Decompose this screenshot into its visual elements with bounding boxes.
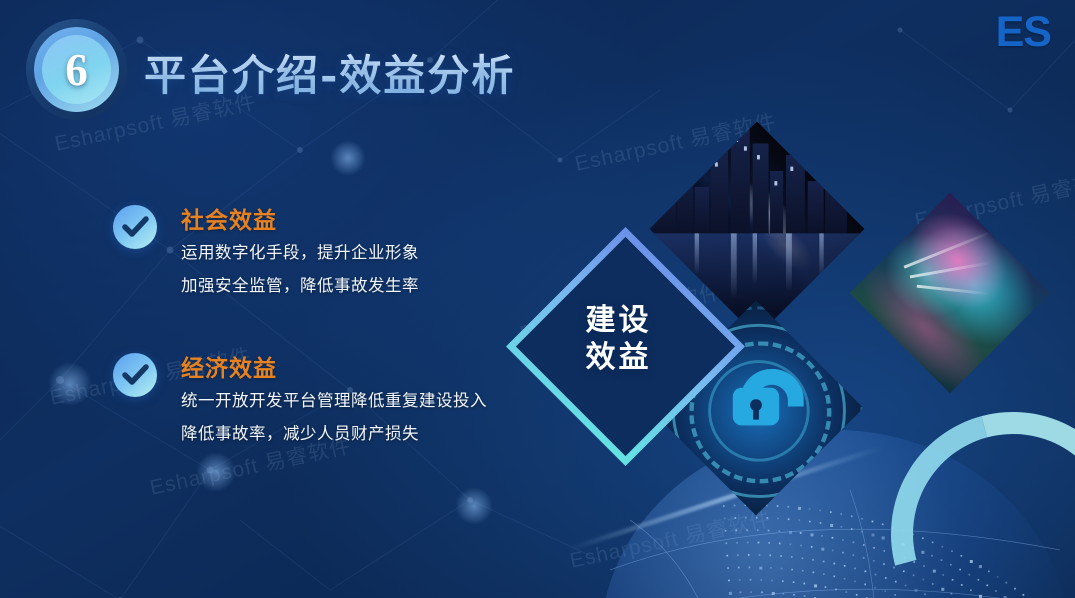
benefit-heading: 社会效益 (181, 201, 277, 235)
watermark: Esharpsoft 易睿软件 (567, 503, 774, 575)
benefit-line: 加强安全监管，降低事故发生率 (181, 272, 419, 296)
benefit-line: 降低事故率，减少人员财产损失 (181, 420, 419, 444)
slide-root: Esharpsoft 易睿软件 Esharpsoft 易睿软件 Esharpso… (0, 0, 1075, 598)
slide-number: 6 (26, 19, 127, 120)
es-logo: ES (996, 8, 1051, 57)
corner-arc-decoration (846, 367, 1075, 598)
benefit-heading: 经济效益 (181, 349, 277, 383)
slide-number-badge: 6 (26, 19, 127, 120)
check-circle-icon (113, 205, 157, 249)
center-label-line1: 建设 (586, 303, 652, 340)
page-title: 平台介绍-效益分析 (144, 42, 515, 103)
diamond-tile-light-show (850, 193, 1051, 394)
benefit-line: 运用数字化手段，提升企业形象 (181, 239, 419, 263)
center-label-line2: 效益 (586, 340, 652, 377)
check-circle-icon (113, 353, 157, 397)
center-diamond-label: 建设 效益 (541, 262, 696, 417)
benefit-line: 统一开放开发平台管理降低重复建设投入 (181, 387, 487, 411)
